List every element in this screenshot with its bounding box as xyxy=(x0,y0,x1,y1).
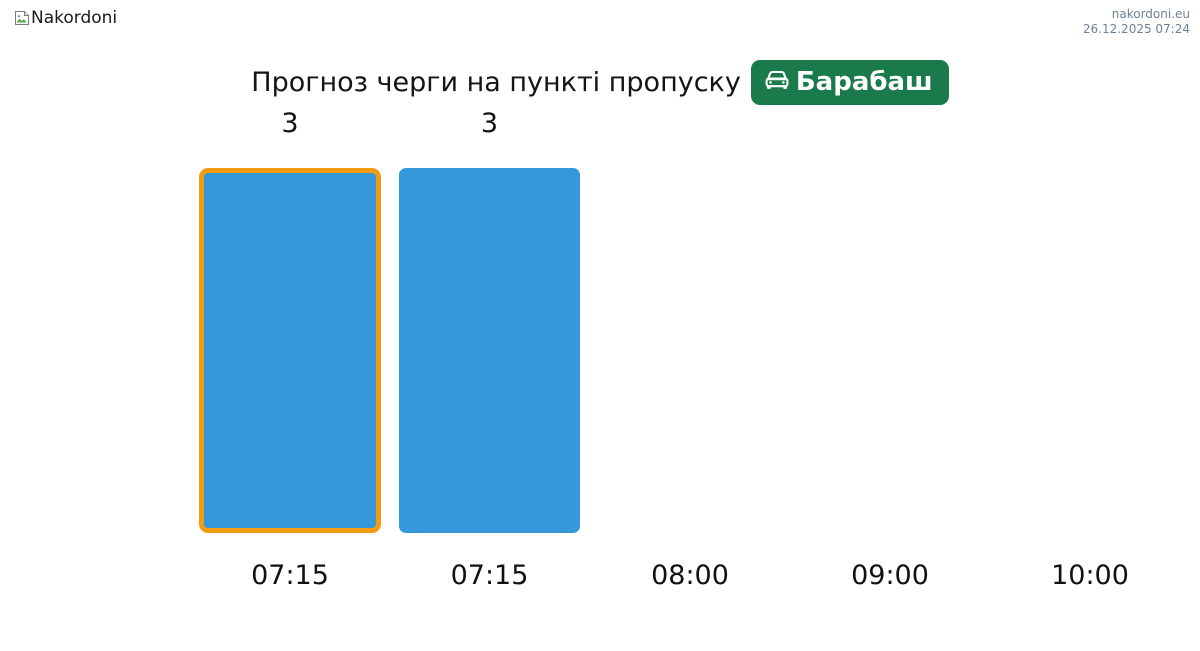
x-tick-0: 07:15 xyxy=(199,560,381,592)
queue-forecast-chart: 3 3 07:15 07:15 08:00 09:00 10:00 xyxy=(0,0,1200,651)
bar-value-label: 3 xyxy=(399,108,580,140)
x-tick-1: 07:15 xyxy=(399,560,580,592)
bar[interactable] xyxy=(199,168,381,533)
bar-group-0: 3 xyxy=(199,108,381,533)
x-tick-2: 08:00 xyxy=(599,560,781,592)
bar-value-label: 3 xyxy=(199,108,381,140)
x-tick-3: 09:00 xyxy=(799,560,981,592)
x-tick-4: 10:00 xyxy=(999,560,1181,592)
bar[interactable] xyxy=(399,168,580,533)
bar-group-1: 3 xyxy=(399,108,580,533)
